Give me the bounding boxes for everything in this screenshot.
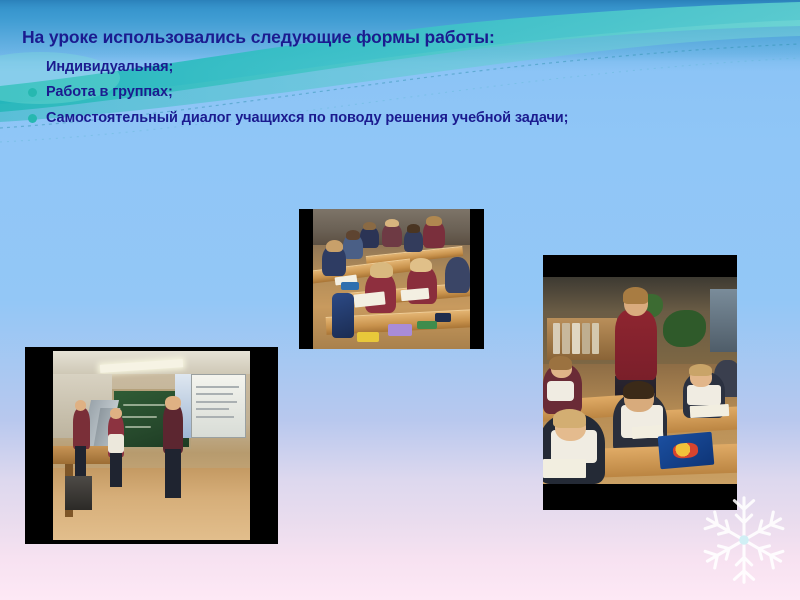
photo-teacher-pupils xyxy=(543,255,737,510)
photo-classroom-desks xyxy=(299,209,484,349)
page-title: На уроке использовались следующие формы … xyxy=(22,27,495,48)
presentation-slide: На уроке использовались следующие формы … xyxy=(0,0,800,600)
bullet-dot-icon xyxy=(28,114,37,123)
list-item: Работа в группах; xyxy=(28,84,173,100)
list-item: Индивидуальная; xyxy=(28,59,173,75)
photo-blackboard-lesson xyxy=(25,347,278,544)
snowflake-decoration xyxy=(696,492,792,588)
list-item-label: Работа в группах; xyxy=(46,84,173,100)
list-item-label: Индивидуальная; xyxy=(46,59,173,75)
bullet-dot-icon xyxy=(28,88,37,97)
list-item-label: Самостоятельный диалог учащихся по повод… xyxy=(46,110,568,126)
list-item: Самостоятельный диалог учащихся по повод… xyxy=(28,110,568,126)
